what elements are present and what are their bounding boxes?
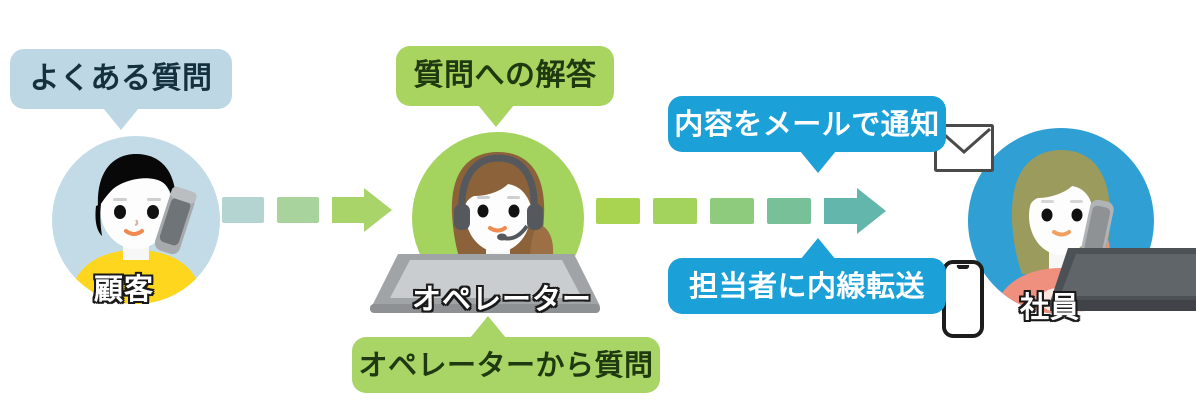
bubble-mail-notify: 内容をメールで通知 (668, 96, 946, 152)
arrow-dash (222, 197, 264, 223)
bubble-answer-tail (478, 105, 514, 127)
arrow-dash (653, 198, 697, 224)
arrow-operator-to-employee (596, 188, 886, 234)
bubble-faq-tail (103, 108, 139, 130)
bubble-answer: 質問への解答 (396, 46, 614, 106)
bubble-mail-notify-tail (800, 151, 836, 173)
operator-label: オペレーター (412, 276, 592, 318)
employee-label: 社員 (1020, 284, 1080, 326)
bubble-extension-transfer: 担当者に内線転送 (668, 258, 946, 314)
flow-diagram: 顧客 (0, 0, 1196, 408)
bubble-operator-question-text: オペレーターから質問 (358, 351, 653, 380)
bubble-operator-question: オペレーターから質問 (352, 337, 660, 393)
bubble-extension-transfer-tail (800, 238, 836, 260)
actor-customer: 顧客 (52, 136, 220, 304)
actor-employee: 社員 (968, 128, 1154, 314)
arrow-dash (277, 197, 319, 223)
smartphone-icon (942, 260, 984, 342)
arrow-customer-to-operator (222, 188, 392, 232)
bubble-answer-text: 質問への解答 (414, 61, 597, 91)
bubble-extension-transfer-text: 担当者に内線転送 (689, 272, 925, 301)
bubble-mail-notify-text: 内容をメールで通知 (674, 110, 940, 139)
arrow-dash (767, 198, 811, 224)
arrow-dash (710, 198, 754, 224)
actor-operator: オペレーター (412, 132, 584, 304)
bubble-faq: よくある質問 (10, 49, 232, 109)
customer-label: 顧客 (94, 266, 154, 308)
bubble-faq-text: よくある質問 (30, 64, 213, 94)
bubble-operator-question-tail (470, 316, 506, 338)
arrow-head-icon (824, 188, 886, 234)
